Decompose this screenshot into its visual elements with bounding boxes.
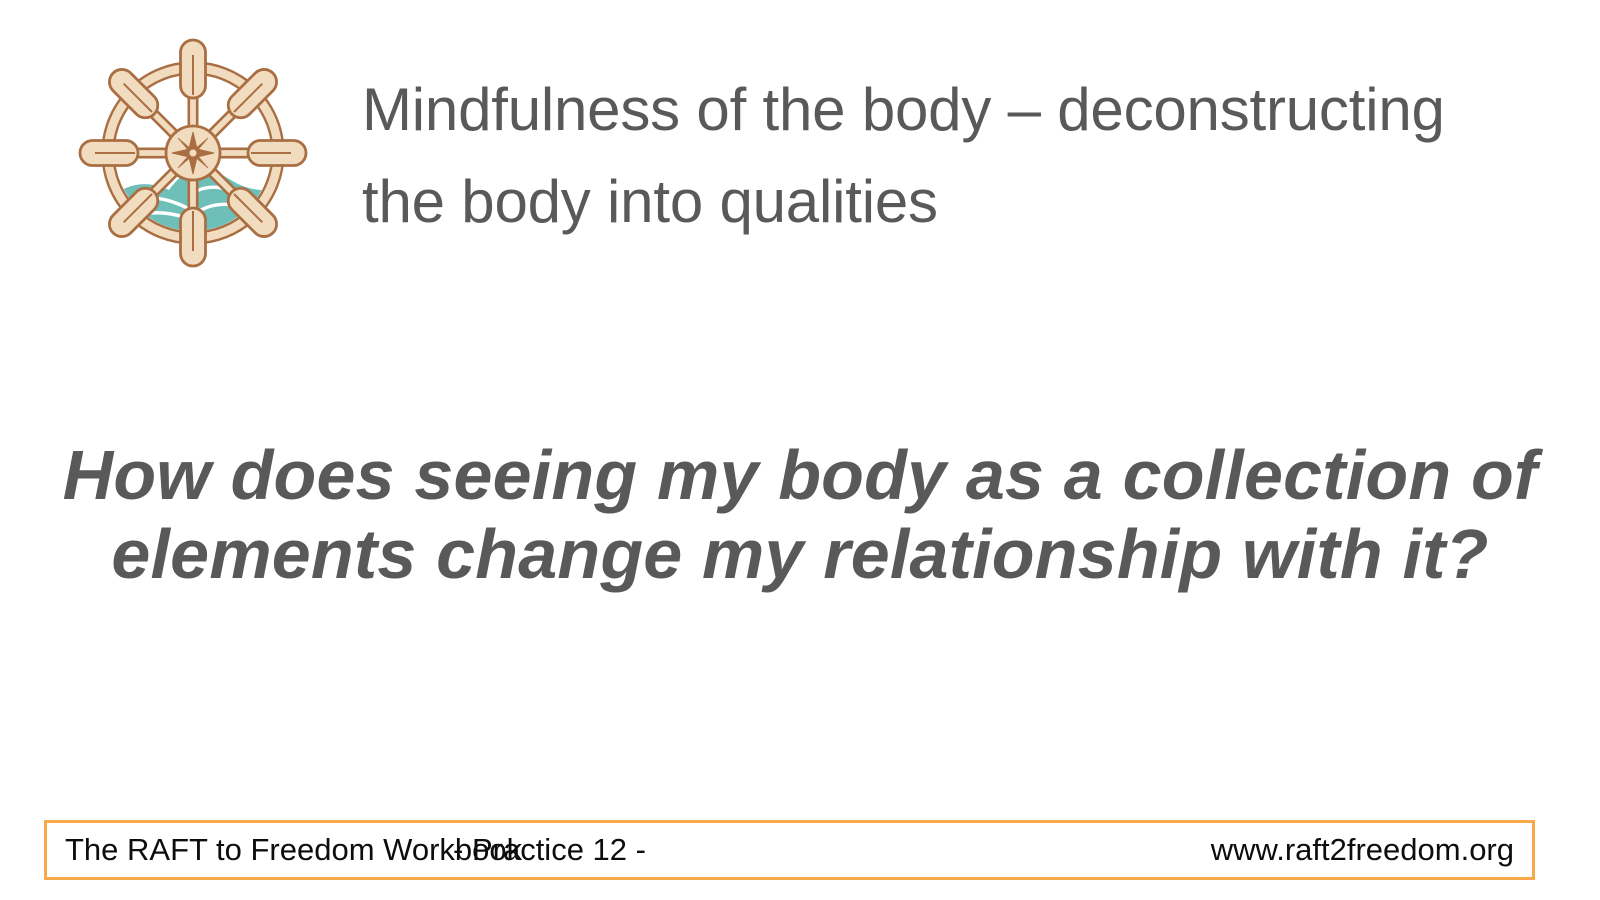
slide-header: Mindfulness of the body – deconstructing… [0,0,1600,300]
page-title: Mindfulness of the body – deconstructing… [362,64,1462,248]
slide-canvas: Mindfulness of the body – deconstructing… [0,0,1600,900]
slide-footer: The RAFT to Freedom Workbook - Practice … [44,820,1535,880]
title-line-2: the body into qualities [362,156,1462,248]
raft-ships-wheel-logo [73,30,313,273]
question-line-1: How does seeing my body as a collection … [60,436,1540,515]
footer-website-link[interactable]: www.raft2freedom.org [1211,832,1514,868]
ships-wheel-icon [73,30,313,273]
question-line-2: elements change my relationship with it? [60,515,1540,594]
reflection-question: How does seeing my body as a collection … [60,436,1540,594]
compass-rose-icon [172,132,214,174]
footer-practice-label: - Practice 12 - [0,832,1292,868]
title-line-1: Mindfulness of the body – deconstructing [362,64,1462,156]
